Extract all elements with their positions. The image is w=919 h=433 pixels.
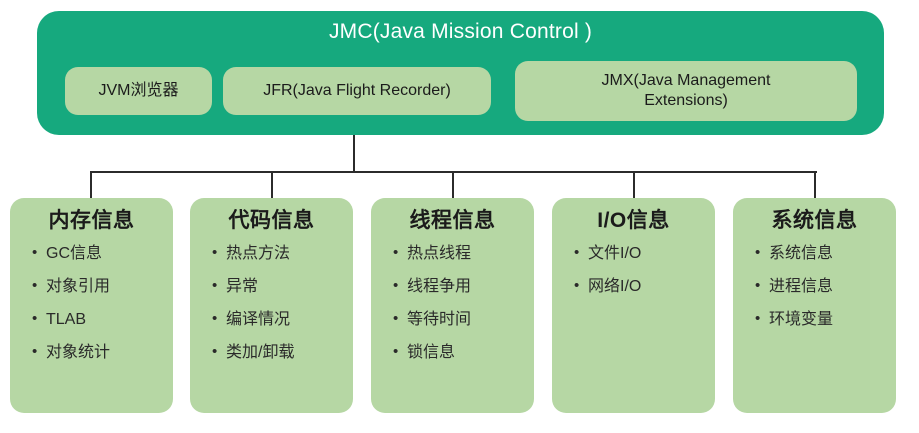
list-item: 环境变量 <box>755 310 896 330</box>
category-box-system[interactable]: 系统信息 系统信息 进程信息 环境变量 <box>733 198 896 413</box>
list-item: 锁信息 <box>393 343 534 363</box>
list-item: 线程争用 <box>393 277 534 297</box>
category-box-code[interactable]: 代码信息 热点方法 异常 编译情况 类加/卸载 <box>190 198 353 413</box>
jmc-title: JMC(Java Mission Control ) <box>37 19 884 45</box>
component-label-jmx: JMX(Java Management Extensions) <box>602 71 771 111</box>
category-list-io: 文件I/O 网络I/O <box>552 244 715 297</box>
list-item: TLAB <box>32 310 173 330</box>
category-box-io[interactable]: I/O信息 文件I/O 网络I/O <box>552 198 715 413</box>
list-item: 对象统计 <box>32 343 173 363</box>
category-list-system: 系统信息 进程信息 环境变量 <box>733 244 896 330</box>
component-box-jvm-browser[interactable]: JVM浏览器 <box>65 67 212 115</box>
category-list-thread: 热点线程 线程争用 等待时间 锁信息 <box>371 244 534 363</box>
jmc-architecture-diagram: JMC(Java Mission Control ) JVM浏览器 JFR(Ja… <box>0 0 919 433</box>
connector-drop-io <box>633 171 635 199</box>
list-item: 类加/卸载 <box>212 343 353 363</box>
list-item: 编译情况 <box>212 310 353 330</box>
list-item: 等待时间 <box>393 310 534 330</box>
component-label-jvm-browser: JVM浏览器 <box>98 81 178 101</box>
category-title-thread: 线程信息 <box>371 208 534 234</box>
component-box-jfr[interactable]: JFR(Java Flight Recorder) <box>223 67 491 115</box>
connector-drop-thread <box>452 171 454 199</box>
category-title-code: 代码信息 <box>190 208 353 234</box>
component-label-jfr: JFR(Java Flight Recorder) <box>263 81 451 101</box>
connector-drop-code <box>271 171 273 199</box>
list-item: 异常 <box>212 277 353 297</box>
list-item: GC信息 <box>32 244 173 264</box>
connector-bus <box>91 171 817 173</box>
list-item: 系统信息 <box>755 244 896 264</box>
category-box-memory[interactable]: 内存信息 GC信息 对象引用 TLAB 对象统计 <box>10 198 173 413</box>
category-title-memory: 内存信息 <box>10 208 173 234</box>
component-label-jmx-line2: Extensions) <box>644 92 728 109</box>
category-title-io: I/O信息 <box>552 208 715 234</box>
list-item: 文件I/O <box>574 244 715 264</box>
category-list-code: 热点方法 异常 编译情况 类加/卸载 <box>190 244 353 363</box>
component-box-jmx[interactable]: JMX(Java Management Extensions) <box>515 61 857 121</box>
connector-drop-system <box>814 171 816 199</box>
category-list-memory: GC信息 对象引用 TLAB 对象统计 <box>10 244 173 363</box>
connector-drop-memory <box>90 171 92 199</box>
list-item: 对象引用 <box>32 277 173 297</box>
list-item: 进程信息 <box>755 277 896 297</box>
list-item: 网络I/O <box>574 277 715 297</box>
connector-stem-jfr <box>353 135 355 173</box>
category-box-thread[interactable]: 线程信息 热点线程 线程争用 等待时间 锁信息 <box>371 198 534 413</box>
component-label-jmx-line1: JMX(Java Management <box>602 72 771 89</box>
category-title-system: 系统信息 <box>733 208 896 234</box>
jmc-panel: JMC(Java Mission Control ) JVM浏览器 JFR(Ja… <box>37 11 884 135</box>
list-item: 热点线程 <box>393 244 534 264</box>
list-item: 热点方法 <box>212 244 353 264</box>
